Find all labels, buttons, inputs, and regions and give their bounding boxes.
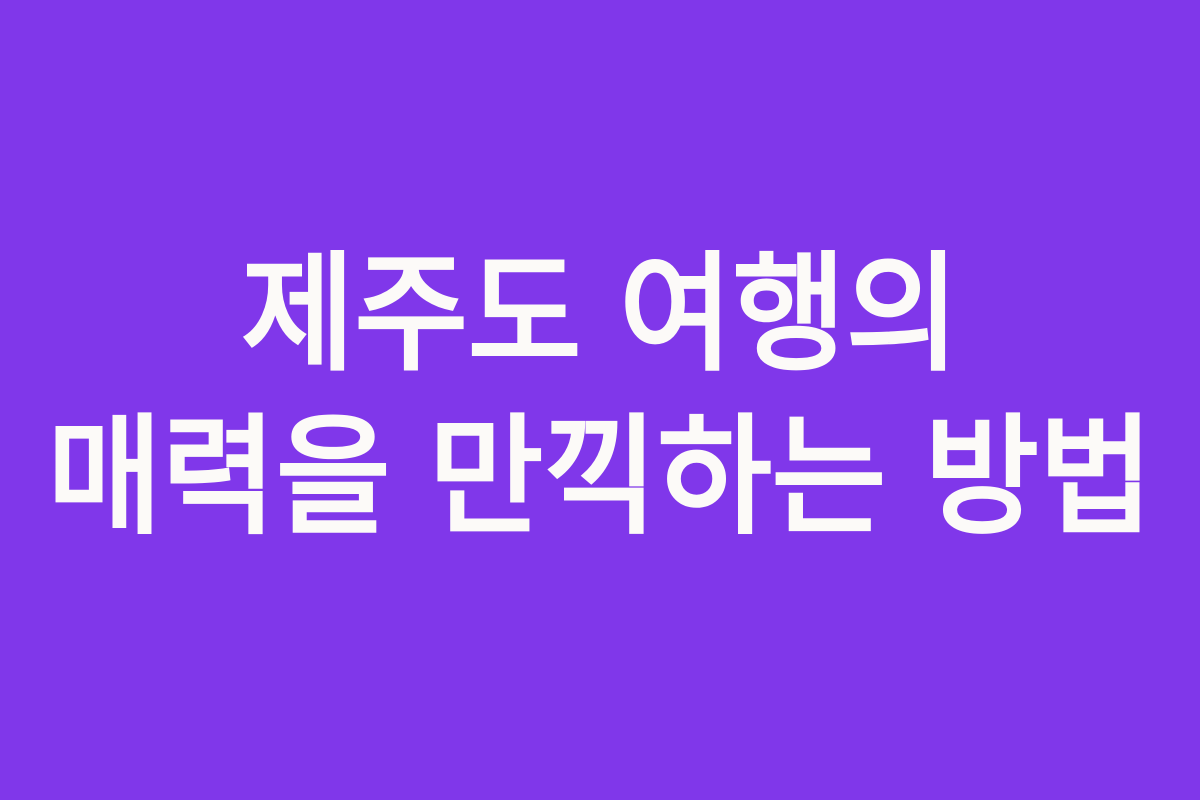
headline-line-1: 제주도 여행의: [0, 234, 1200, 396]
headline-block: 제주도 여행의 매력을 만끽하는 방법: [0, 240, 1200, 553]
headline-line-2: 매력을 만끽하는 방법: [0, 396, 1200, 560]
poster-canvas: 제주도 여행의 매력을 만끽하는 방법: [0, 0, 1200, 800]
